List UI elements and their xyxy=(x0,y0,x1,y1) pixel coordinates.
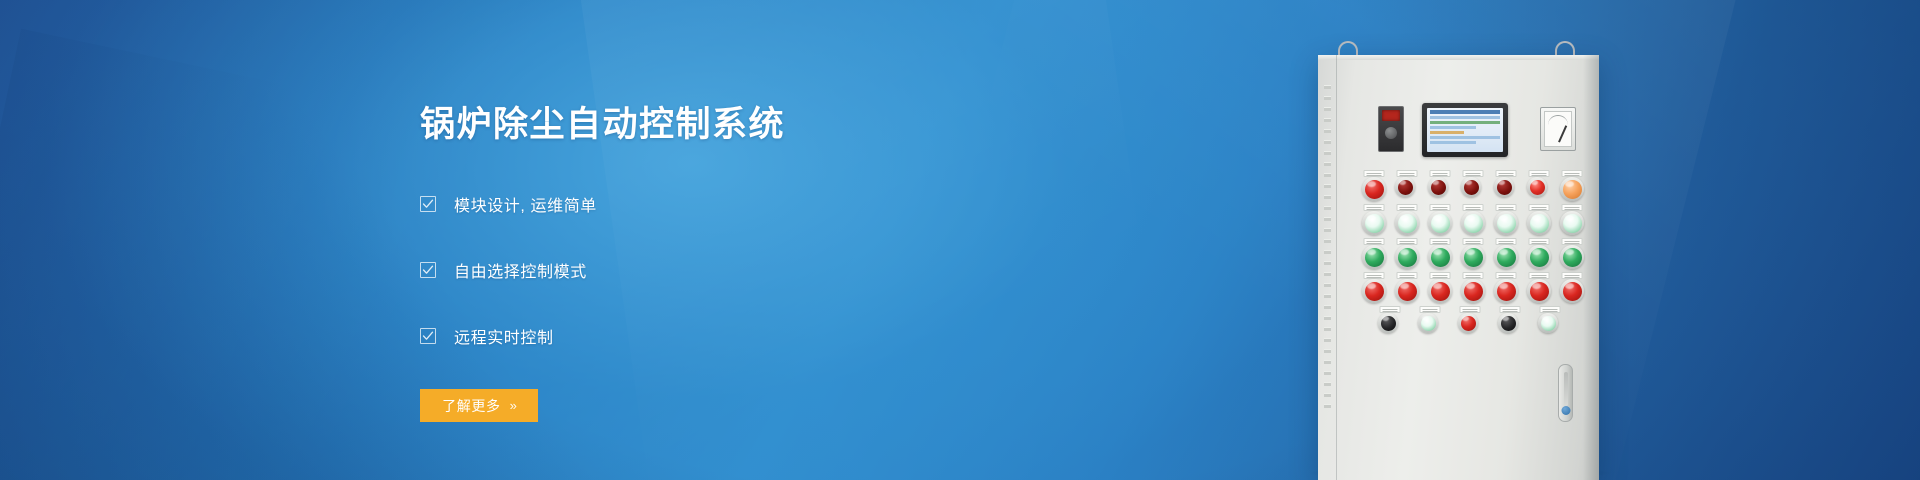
push-button[interactable] xyxy=(1428,245,1452,269)
row-4-push-buttons-red xyxy=(1362,279,1588,303)
hinge-segment xyxy=(1324,195,1331,199)
hinge-segment xyxy=(1324,228,1331,232)
hinge-segment xyxy=(1324,85,1331,89)
cabinet-top-edge xyxy=(1318,55,1599,60)
controller-knob-icon[interactable] xyxy=(1385,127,1397,139)
hinge-segment xyxy=(1324,338,1331,342)
feature-label-1: 模块设计, 运维简单 xyxy=(454,192,597,216)
indicator-lamp[interactable] xyxy=(1527,177,1547,197)
indicator-lamp[interactable] xyxy=(1494,177,1514,197)
feature-label-2: 自由选择控制模式 xyxy=(454,258,587,282)
control-cabinet-image xyxy=(1160,0,1920,480)
push-button[interactable] xyxy=(1362,245,1386,269)
indicator-lamp[interactable] xyxy=(1395,211,1419,235)
lamp-cell xyxy=(1498,313,1522,333)
push-button[interactable] xyxy=(1494,245,1518,269)
lamp-cell xyxy=(1362,177,1386,201)
lamp-cell xyxy=(1494,177,1518,201)
hmi-row xyxy=(1430,116,1500,119)
lamp-label-tag xyxy=(1529,238,1550,245)
lamp-label-tag xyxy=(1496,238,1517,245)
hinge-segment xyxy=(1324,327,1331,331)
control-button-grid xyxy=(1362,177,1588,343)
meter-face xyxy=(1544,111,1572,147)
indicator-lamp[interactable] xyxy=(1527,211,1551,235)
hinge-segment xyxy=(1324,261,1331,265)
row-1-indicator-lamps xyxy=(1362,177,1588,201)
hmi-row xyxy=(1430,121,1500,124)
hinge-segment xyxy=(1324,250,1331,254)
lamp-cell xyxy=(1494,245,1518,269)
indicator-lamp[interactable] xyxy=(1560,177,1584,201)
push-button[interactable] xyxy=(1362,279,1386,303)
hmi-row xyxy=(1430,126,1476,129)
hmi-screen xyxy=(1427,108,1503,152)
row-3-push-buttons-green xyxy=(1362,245,1588,269)
lamp-cell xyxy=(1527,245,1551,269)
lamp-label-tag xyxy=(1397,204,1418,211)
hinge-segment xyxy=(1324,283,1331,287)
indicator-lamp[interactable] xyxy=(1362,177,1386,201)
lamp-cell xyxy=(1362,279,1386,303)
temperature-controller[interactable] xyxy=(1378,106,1404,152)
lamp-cell xyxy=(1428,279,1452,303)
checkbox-check-icon xyxy=(420,262,436,278)
lamp-label-tag xyxy=(1562,238,1583,245)
learn-more-label: 了解更多 xyxy=(442,396,500,416)
feature-label-3: 远程实时控制 xyxy=(454,324,554,348)
lamp-label-tag xyxy=(1562,272,1583,279)
hinge-segment xyxy=(1324,349,1331,353)
hinge-segment xyxy=(1324,316,1331,320)
controller-display xyxy=(1382,110,1400,121)
lamp-label-tag xyxy=(1397,238,1418,245)
indicator-lamp[interactable] xyxy=(1362,211,1386,235)
push-button[interactable] xyxy=(1494,279,1518,303)
hinge-segment xyxy=(1324,272,1331,276)
banner-copy-block: 锅炉除尘自动控制系统 模块设计, 运维简单 自由选择控制模式 xyxy=(420,104,980,422)
hmi-touch-panel[interactable] xyxy=(1422,103,1508,157)
hinge-segment xyxy=(1324,360,1331,364)
lamp-label-tag xyxy=(1562,204,1583,211)
hinge-segment xyxy=(1324,294,1331,298)
lamp-cell xyxy=(1461,177,1485,201)
lamp-label-tag xyxy=(1529,272,1550,279)
list-item: 模块设计, 运维简单 xyxy=(420,187,980,220)
lamp-label-tag xyxy=(1496,272,1517,279)
meter-scale-arc xyxy=(1548,115,1568,125)
hinge-segment xyxy=(1324,129,1331,133)
lamp-cell xyxy=(1494,279,1518,303)
hmi-row xyxy=(1430,131,1464,134)
lamp-cell xyxy=(1418,313,1442,333)
push-button[interactable] xyxy=(1395,245,1419,269)
lamp-cell xyxy=(1461,211,1485,235)
lamp-cell xyxy=(1378,313,1402,333)
hmi-row xyxy=(1430,141,1476,144)
hinge-segment xyxy=(1324,239,1331,243)
lamp-cell xyxy=(1527,279,1551,303)
indicator-lamp[interactable] xyxy=(1428,177,1448,197)
cabinet-hinge-strip xyxy=(1324,85,1331,415)
page-title: 锅炉除尘自动控制系统 xyxy=(420,104,980,146)
meter-needle-icon xyxy=(1558,125,1567,142)
lamp-cell xyxy=(1395,211,1419,235)
lamp-label-tag xyxy=(1364,238,1385,245)
checkbox-check-icon xyxy=(420,328,436,344)
lock-icon[interactable] xyxy=(1561,406,1570,415)
hmi-row xyxy=(1430,136,1500,139)
checkbox-check-icon xyxy=(420,196,436,212)
hinge-segment xyxy=(1324,107,1331,111)
indicator-lamp[interactable] xyxy=(1461,211,1485,235)
hinge-segment xyxy=(1324,217,1331,221)
lamp-label-tag xyxy=(1430,238,1451,245)
lamp-cell xyxy=(1527,211,1551,235)
lamp-label-tag xyxy=(1496,170,1517,177)
hinge-segment xyxy=(1324,173,1331,177)
list-gap-2 xyxy=(420,286,980,319)
lamp-label-tag xyxy=(1430,170,1451,177)
hinge-segment xyxy=(1324,151,1331,155)
cabinet-door-seam xyxy=(1336,55,1337,480)
hinge-segment xyxy=(1324,96,1331,100)
lamp-label-tag xyxy=(1397,170,1418,177)
push-button[interactable] xyxy=(1560,279,1584,303)
hero-banner: 锅炉除尘自动控制系统 模块设计, 运维简单 自由选择控制模式 xyxy=(0,0,1920,480)
lamp-cell xyxy=(1395,245,1419,269)
hinge-segment xyxy=(1324,140,1331,144)
push-button[interactable] xyxy=(1527,279,1551,303)
door-handle-lock[interactable] xyxy=(1558,364,1573,422)
hinge-segment xyxy=(1324,206,1331,210)
industrial-control-cabinet xyxy=(1318,55,1599,480)
list-gap-1 xyxy=(420,220,980,253)
lamp-label-tag xyxy=(1364,204,1385,211)
lamp-label-tag xyxy=(1460,306,1481,313)
lamp-label-tag xyxy=(1496,204,1517,211)
selector-button[interactable] xyxy=(1538,313,1558,333)
instrument-row xyxy=(1364,103,1584,157)
lamp-label-tag xyxy=(1463,170,1484,177)
handle-slot xyxy=(1564,372,1568,406)
lamp-cell xyxy=(1458,313,1482,333)
lamp-cell xyxy=(1362,245,1386,269)
lamp-label-tag xyxy=(1430,204,1451,211)
row-2-indicator-lamps xyxy=(1362,211,1588,235)
lamp-cell xyxy=(1560,245,1584,269)
lamp-cell xyxy=(1428,211,1452,235)
lamp-label-tag xyxy=(1380,306,1401,313)
lamp-cell xyxy=(1428,245,1452,269)
hinge-segment xyxy=(1324,305,1331,309)
cabinet-right-shadow xyxy=(1583,55,1599,480)
indicator-lamp[interactable] xyxy=(1395,177,1415,197)
indicator-lamp[interactable] xyxy=(1461,177,1481,197)
push-button[interactable] xyxy=(1428,279,1452,303)
selector-button[interactable] xyxy=(1418,313,1438,333)
lamp-label-tag xyxy=(1397,272,1418,279)
indicator-lamp[interactable] xyxy=(1428,211,1452,235)
lamp-cell xyxy=(1395,177,1419,201)
lamp-label-tag xyxy=(1364,272,1385,279)
hinge-segment xyxy=(1324,404,1331,408)
push-button[interactable] xyxy=(1461,245,1485,269)
push-button[interactable] xyxy=(1395,279,1419,303)
cabinet-body xyxy=(1318,55,1599,480)
push-button[interactable] xyxy=(1461,279,1485,303)
lamp-label-tag xyxy=(1540,306,1561,313)
lamp-cell xyxy=(1461,279,1485,303)
hinge-segment xyxy=(1324,393,1331,397)
lamp-cell xyxy=(1527,177,1551,201)
lamp-label-tag xyxy=(1500,306,1521,313)
chevron-right-icon: » xyxy=(510,398,516,413)
hinge-segment xyxy=(1324,184,1331,188)
lamp-label-tag xyxy=(1420,306,1441,313)
lamp-cell xyxy=(1362,211,1386,235)
lamp-label-tag xyxy=(1529,204,1550,211)
feature-list: 模块设计, 运维简单 自由选择控制模式 远程实时控制 xyxy=(420,187,980,352)
selector-button[interactable] xyxy=(1458,313,1478,333)
lamp-cell xyxy=(1428,177,1452,201)
lamp-cell xyxy=(1560,279,1584,303)
row-5-selector-buttons xyxy=(1362,313,1588,333)
hinge-segment xyxy=(1324,118,1331,122)
lamp-label-tag xyxy=(1430,272,1451,279)
lamp-cell xyxy=(1395,279,1419,303)
lamp-cell xyxy=(1461,245,1485,269)
push-button[interactable] xyxy=(1527,245,1551,269)
lamp-label-tag xyxy=(1529,170,1550,177)
lamp-cell xyxy=(1538,313,1562,333)
hmi-title-bar xyxy=(1430,110,1500,114)
lamp-cell xyxy=(1560,177,1584,201)
lamp-cell xyxy=(1494,211,1518,235)
analog-meter xyxy=(1540,107,1576,151)
learn-more-button[interactable]: 了解更多 » xyxy=(420,389,538,422)
push-button[interactable] xyxy=(1560,245,1584,269)
lamp-label-tag xyxy=(1364,170,1385,177)
list-item: 自由选择控制模式 xyxy=(420,253,980,286)
lamp-cell xyxy=(1560,211,1584,235)
indicator-lamp[interactable] xyxy=(1494,211,1518,235)
hinge-segment xyxy=(1324,382,1331,386)
hinge-segment xyxy=(1324,371,1331,375)
lamp-label-tag xyxy=(1463,272,1484,279)
indicator-lamp[interactable] xyxy=(1560,211,1584,235)
lamp-label-tag xyxy=(1463,204,1484,211)
selector-button[interactable] xyxy=(1498,313,1518,333)
hinge-segment xyxy=(1324,162,1331,166)
selector-button[interactable] xyxy=(1378,313,1398,333)
lamp-label-tag xyxy=(1463,238,1484,245)
lamp-label-tag xyxy=(1562,170,1583,177)
list-item: 远程实时控制 xyxy=(420,319,980,352)
